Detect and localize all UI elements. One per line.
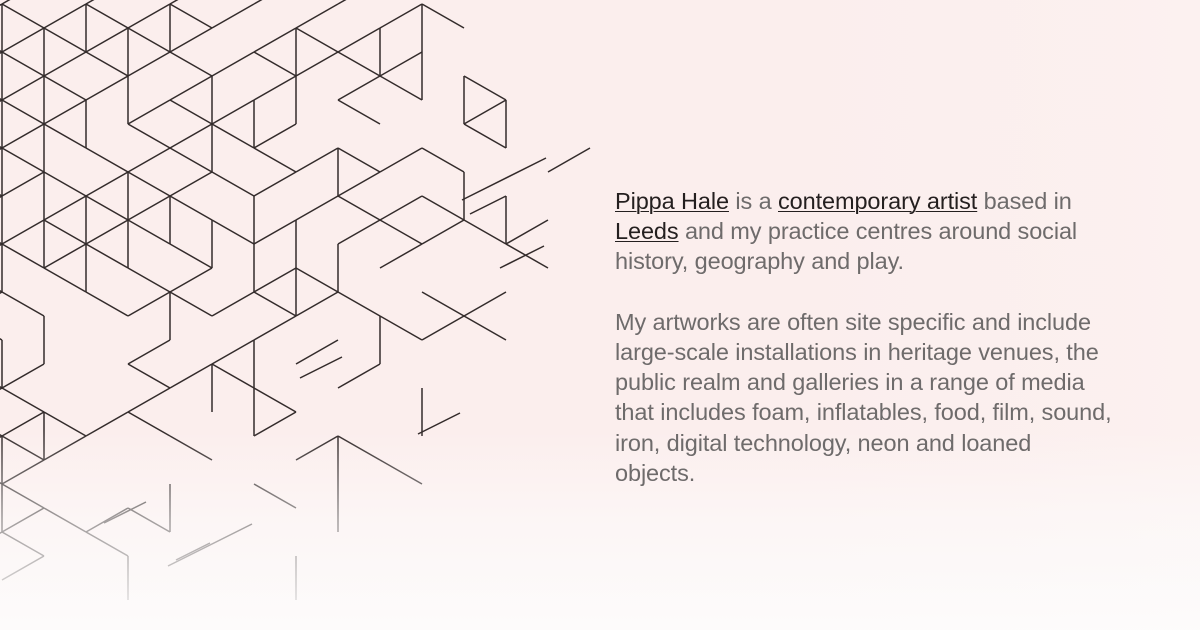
bio-text-after-role: based in bbox=[977, 188, 1071, 214]
isometric-lattice-artwork bbox=[0, 0, 620, 600]
bio-text-column: Pippa Hale is a contemporary artist base… bbox=[615, 186, 1115, 488]
bio-text-tail: and my practice centres around social hi… bbox=[615, 218, 1077, 274]
page-root: Pippa Hale is a contemporary artist base… bbox=[0, 0, 1200, 630]
link-pippa-hale[interactable]: Pippa Hale bbox=[615, 188, 729, 214]
link-contemporary-artist[interactable]: contemporary artist bbox=[778, 188, 977, 214]
bio-paragraph-two: My artworks are often site specific and … bbox=[615, 307, 1115, 488]
bio-paragraph-one: Pippa Hale is a contemporary artist base… bbox=[615, 186, 1115, 277]
link-leeds[interactable]: Leeds bbox=[615, 218, 679, 244]
bio-text-after-name: is a bbox=[729, 188, 778, 214]
